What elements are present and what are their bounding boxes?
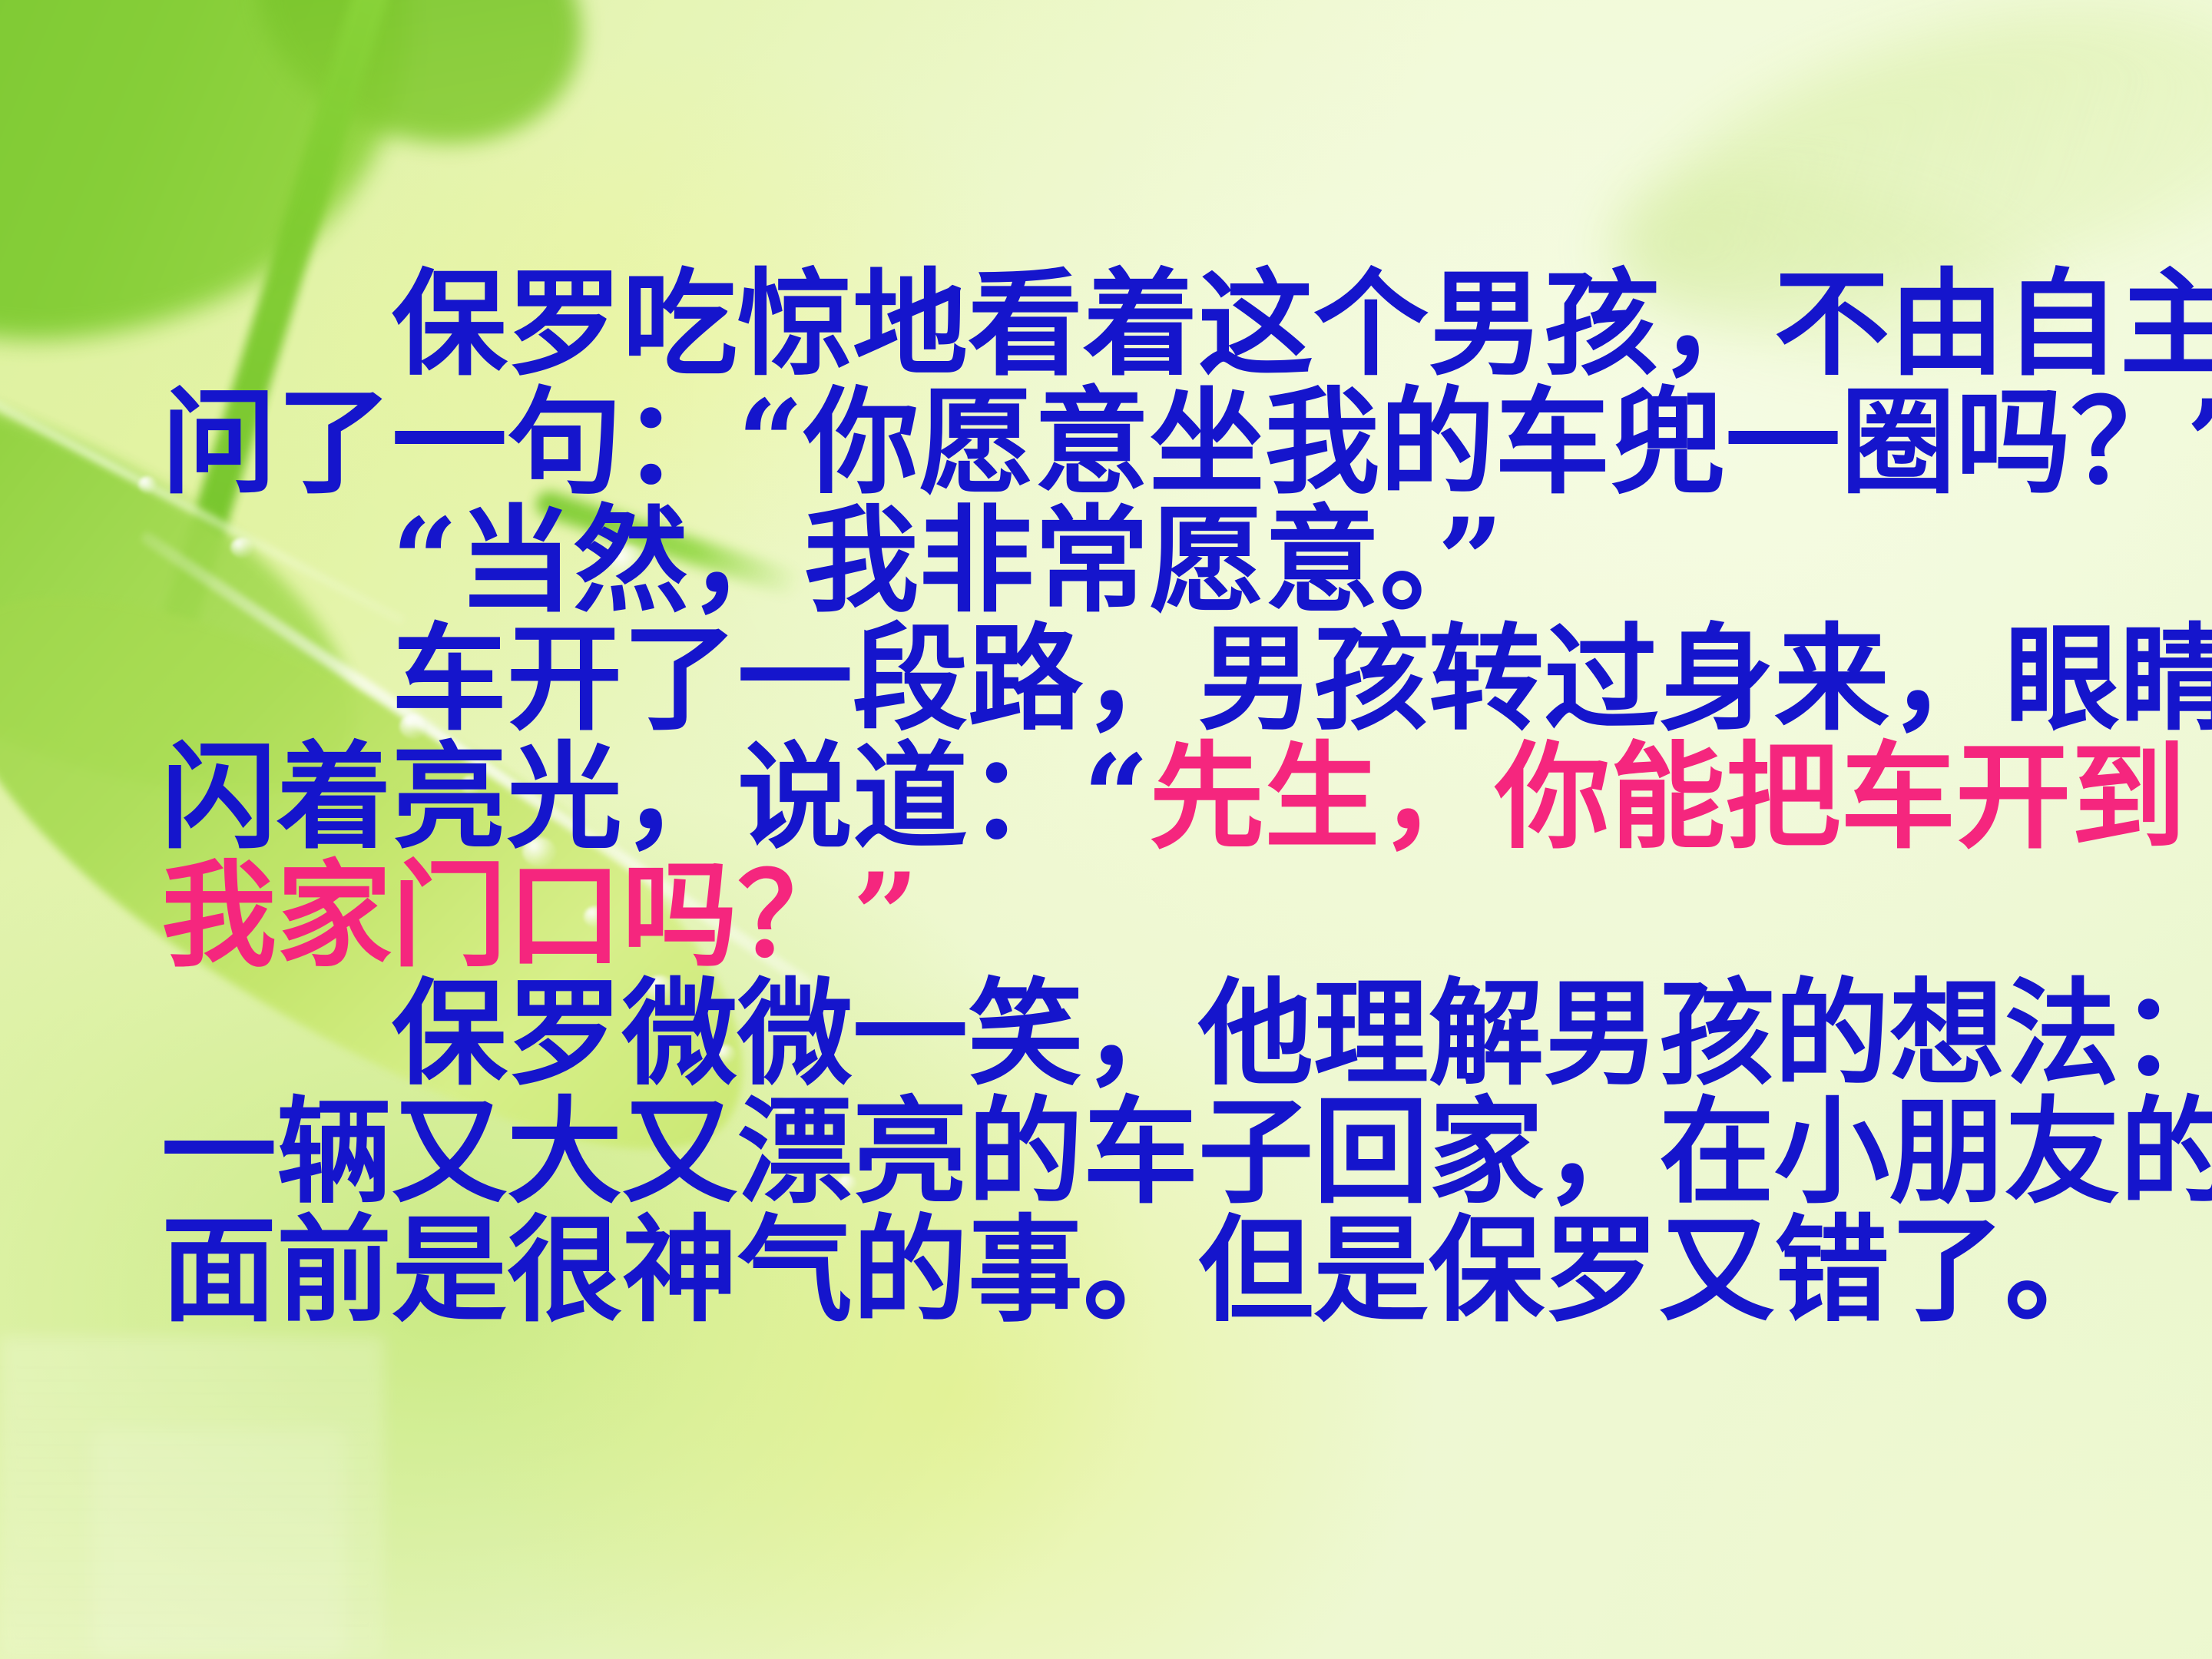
text-line-l8: 一辆又大又漂亮的车子回家，在小朋友的 [161, 1093, 2028, 1211]
text-line-l9: 面前是很神气的事。但是保罗又错了。 [161, 1211, 2028, 1330]
text-run-blue: 一辆又大又漂亮的车子回家，在小朋友的 [161, 1084, 2212, 1220]
text-line-l5: 闪着亮光，说道：“先生，你能把车开到 [161, 738, 2028, 856]
text-line-l3: “当然，我非常愿意。” [161, 502, 2028, 620]
text-line-l7: 保罗微微一笑，他理解男孩的想法：坐 [161, 975, 2028, 1093]
text-run-blue: 闪着亮光，说道：“ [161, 730, 1149, 865]
slide-text-body: 保罗吃惊地看着这个男孩，不由自主地问了一句：“你愿意坐我的车兜一圈吗？”“当然，… [161, 265, 2028, 1330]
text-run-blue: “当然，我非常愿意。” [392, 493, 1504, 628]
text-line-l6: 我家门口吗？” [161, 856, 2028, 975]
text-run-pink: 我家门口吗？” [161, 848, 919, 983]
text-line-l2: 问了一句：“你愿意坐我的车兜一圈吗？” [161, 383, 2028, 502]
text-run-pink: 先生，你能把车开到 [1149, 730, 2186, 865]
text-run-blue: 车开了一段路，男孩转过身来，眼睛里 [392, 611, 2212, 747]
text-run-blue: 问了一句：“你愿意坐我的车兜一圈吗？” [161, 375, 2212, 510]
text-line-l1: 保罗吃惊地看着这个男孩，不由自主地 [161, 265, 2028, 383]
text-run-blue: 保罗吃惊地看着这个男孩，不由自主地 [392, 257, 2212, 392]
presentation-slide: 保罗吃惊地看着这个男孩，不由自主地问了一句：“你愿意坐我的车兜一圈吗？”“当然，… [0, 0, 2212, 1659]
text-line-l4: 车开了一段路，男孩转过身来，眼睛里 [161, 620, 2028, 738]
text-run-blue: 面前是很神气的事。但是保罗又错了。 [161, 1203, 2120, 1338]
text-run-blue: 保罗微微一笑，他理解男孩的想法：坐 [392, 966, 2212, 1101]
